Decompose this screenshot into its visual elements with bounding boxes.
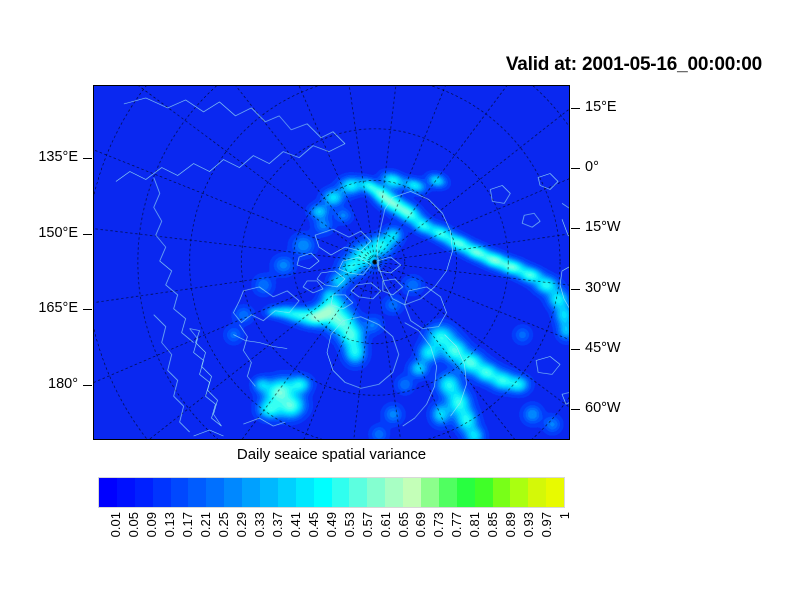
colorbar-label-14: 0.57 [361, 512, 374, 537]
colorbar-cell-14 [349, 478, 367, 507]
left-axis-label-0: 135°E [38, 150, 78, 165]
left-axis-label-3: 180° [48, 377, 78, 392]
colorbar-label-12: 0.49 [325, 512, 338, 537]
colorbar-tick-labels: 0.010.050.090.130.170.210.250.290.330.37… [98, 512, 565, 572]
colorbar-label-22: 0.89 [504, 512, 517, 537]
colorbar-label-6: 0.25 [217, 512, 230, 537]
colorbar-label-5: 0.21 [199, 512, 212, 537]
colorbar-label-25: 1 [558, 512, 571, 519]
colorbar-label-15: 0.61 [379, 512, 392, 537]
left-tick-1 [83, 234, 92, 235]
colorbar-cell-2 [135, 478, 153, 507]
right-axis-label-5: 60°W [585, 401, 621, 416]
colorbar-label-23: 0.93 [522, 512, 535, 537]
colorbar-label-24: 0.97 [540, 512, 553, 537]
colorbar-cell-11 [296, 478, 314, 507]
right-tick-5 [571, 409, 580, 410]
colorbar-cell-10 [278, 478, 296, 507]
right-tick-4 [571, 349, 580, 350]
colorbar[interactable] [98, 477, 565, 508]
map-caption: Daily seaice spatial variance [93, 446, 570, 463]
colorbar-label-13: 0.53 [343, 512, 356, 537]
left-tick-3 [83, 385, 92, 386]
colorbar-label-3: 0.13 [163, 512, 176, 537]
colorbar-label-7: 0.29 [235, 512, 248, 537]
colorbar-cell-7 [224, 478, 242, 507]
colorbar-cell-24 [528, 478, 546, 507]
colorbar-cell-23 [510, 478, 528, 507]
colorbar-cell-17 [403, 478, 421, 507]
plot-title: Valid at: 2001-05-16_00:00:00 [506, 54, 762, 76]
colorbar-label-17: 0.69 [414, 512, 427, 537]
colorbar-cell-20 [457, 478, 475, 507]
colorbar-cell-0 [99, 478, 117, 507]
colorbar-cell-5 [188, 478, 206, 507]
colorbar-strip [98, 477, 565, 508]
colorbar-label-1: 0.05 [127, 512, 140, 537]
colorbar-label-11: 0.45 [307, 512, 320, 537]
colorbar-label-4: 0.17 [181, 512, 194, 537]
colorbar-cell-18 [421, 478, 439, 507]
right-tick-2 [571, 228, 580, 229]
colorbar-cell-15 [367, 478, 385, 507]
right-axis-label-3: 30°W [585, 281, 621, 296]
colorbar-cell-16 [385, 478, 403, 507]
left-tick-0 [83, 158, 92, 159]
right-axis-label-2: 15°W [585, 220, 621, 235]
colorbar-cell-22 [493, 478, 511, 507]
colorbar-cell-3 [153, 478, 171, 507]
colorbar-cell-21 [475, 478, 493, 507]
colorbar-cell-8 [242, 478, 260, 507]
map-plot-area[interactable] [93, 85, 570, 440]
left-axis-label-1: 150°E [38, 226, 78, 241]
right-tick-0 [571, 108, 580, 109]
colorbar-label-10: 0.41 [289, 512, 302, 537]
colorbar-label-21: 0.85 [486, 512, 499, 537]
colorbar-cell-25 [546, 478, 564, 507]
colorbar-label-0: 0.01 [109, 512, 122, 537]
colorbar-cell-1 [117, 478, 135, 507]
colorbar-label-2: 0.09 [145, 512, 158, 537]
right-axis-label-1: 0° [585, 160, 599, 175]
right-tick-3 [571, 289, 580, 290]
left-tick-2 [83, 309, 92, 310]
right-axis-label-4: 45°W [585, 341, 621, 356]
colorbar-cell-6 [206, 478, 224, 507]
colorbar-cell-4 [171, 478, 189, 507]
colorbar-label-20: 0.81 [468, 512, 481, 537]
colorbar-label-18: 0.73 [432, 512, 445, 537]
colorbar-label-19: 0.77 [450, 512, 463, 537]
colorbar-cell-12 [314, 478, 332, 507]
right-axis-label-0: 15°E [585, 100, 617, 115]
colorbar-cell-9 [260, 478, 278, 507]
colorbar-cell-13 [332, 478, 350, 507]
left-axis-label-2: 165°E [38, 301, 78, 316]
right-tick-1 [571, 168, 580, 169]
colorbar-label-16: 0.65 [397, 512, 410, 537]
map-canvas [94, 86, 569, 439]
colorbar-label-8: 0.33 [253, 512, 266, 537]
colorbar-label-9: 0.37 [271, 512, 284, 537]
colorbar-cell-19 [439, 478, 457, 507]
